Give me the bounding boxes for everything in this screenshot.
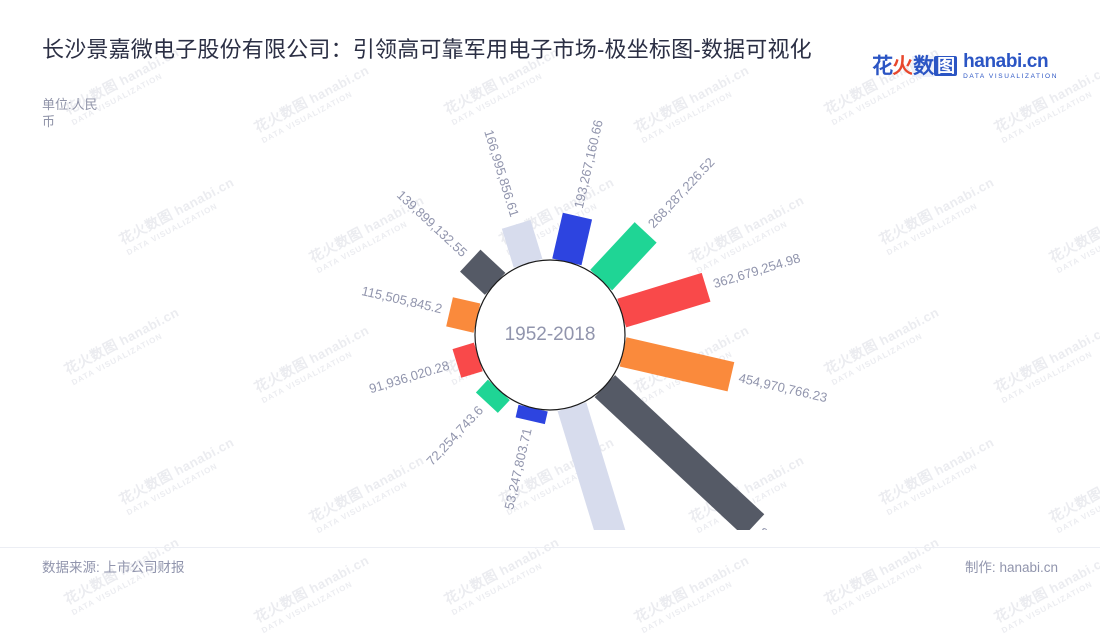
brand-logo-en-sub: DATA VISUALIZATION — [963, 74, 1058, 81]
watermark-tile: 花火数图 hanabi.cnDATA VISUALIZATION — [251, 550, 377, 635]
polar-bar-value-label: 91,936,020.28 — [367, 358, 451, 397]
logo-char-hua: 花 — [872, 56, 892, 77]
polar-bar-value-label: 115,505,845.2 — [360, 283, 443, 316]
polar-chart: 53,247,803.7172,254,743.691,936,020.2811… — [0, 100, 1100, 530]
watermark-tile: 花火数图 hanabi.cnDATA VISUALIZATION — [821, 532, 947, 617]
logo-char-tu: 图 — [934, 56, 957, 76]
polar-bar-value-label: 166,995,856.61 — [481, 128, 522, 219]
chart-subtitle: 单位:人民币 — [42, 96, 102, 130]
polar-bar[interactable] — [552, 213, 592, 266]
watermark-tile: 花火数图 hanabi.cnDATA VISUALIZATION — [631, 550, 757, 635]
credit-label: 制作: hanabi.cn — [965, 556, 1058, 576]
brand-logo-en-main: hanabi.cn — [963, 52, 1058, 71]
polar-bar[interactable] — [617, 273, 710, 327]
brand-logo-en: hanabi.cn DATA VISUALIZATION — [963, 52, 1058, 81]
polar-bar-value-label: 193,267,160.66 — [571, 118, 606, 209]
logo-char-huo: 火 — [892, 56, 912, 77]
polar-bar-value-label: 454,970,766.23 — [737, 370, 828, 405]
brand-logo: 花火数图 hanabi.cn DATA VISUALIZATION — [872, 52, 1058, 81]
polar-bar-value-label: 72,254,743.6 — [423, 403, 486, 469]
data-source-label: 数据来源: 上市公司财报 — [42, 556, 185, 576]
polar-bar[interactable] — [502, 220, 543, 268]
polar-bar[interactable] — [620, 337, 735, 391]
polar-bar-value-label: 838,504,605.75 — [755, 524, 831, 530]
chart-header: 长沙景嘉微电子股份有限公司：引领高可靠军用电子市场-极坐标图-数据可视化 — [42, 34, 842, 65]
polar-bar-value-label: 53,247,803.71 — [501, 427, 534, 511]
polar-bar-value-label: 362,679,254.98 — [711, 250, 802, 291]
polar-center-label: 1952-2018 — [505, 324, 596, 346]
logo-char-shu: 数 — [912, 56, 934, 77]
polar-bar[interactable] — [595, 375, 765, 530]
footer-divider — [0, 547, 1100, 548]
watermark-tile: 花火数图 hanabi.cnDATA VISUALIZATION — [441, 532, 567, 617]
page-title: 长沙景嘉微电子股份有限公司：引领高可靠军用电子市场-极坐标图-数据可视化 — [42, 34, 842, 65]
brand-logo-cn: 花火数图 — [872, 56, 957, 77]
polar-bar-value-label: 139,899,132.55 — [394, 187, 470, 260]
polar-bar-value-label: 268,287,226.52 — [645, 155, 718, 231]
polar-chart-svg: 53,247,803.7172,254,743.691,936,020.2811… — [0, 100, 1100, 530]
